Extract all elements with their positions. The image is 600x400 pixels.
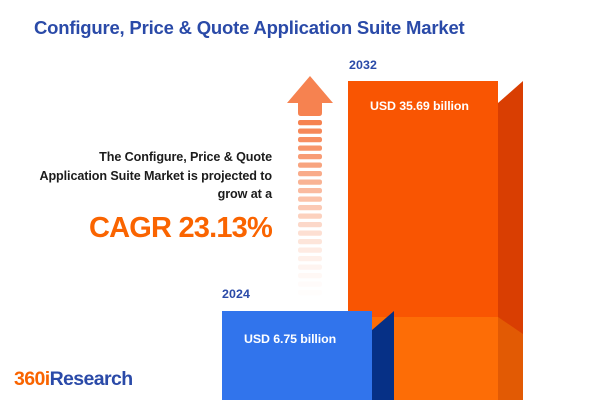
logo-text-360: 360 (14, 368, 45, 390)
page-title: Configure, Price & Quote Application Sui… (34, 17, 574, 39)
bar-2032-value-label: USD 35.69 billion (370, 99, 498, 113)
bar-2024-value-label: USD 6.75 billion (244, 332, 372, 346)
bar-2024-side-face (372, 311, 394, 400)
bar-label-2024: 2024 (222, 287, 250, 301)
brand-logo: 360iResearch (14, 368, 133, 391)
bar-2024-front-face (222, 311, 372, 400)
cagr-highlight: CAGR 23.13% (34, 213, 272, 243)
upward-growth-arrow-icon (286, 74, 334, 298)
narrative-block: The Configure, Price & Quote Application… (34, 148, 272, 243)
bar-2024: USD 6.75 billion (222, 311, 394, 400)
growth-statement: The Configure, Price & Quote Application… (34, 148, 272, 204)
bar-label-2032: 2032 (349, 58, 377, 72)
logo-text-research: Research (50, 368, 133, 390)
